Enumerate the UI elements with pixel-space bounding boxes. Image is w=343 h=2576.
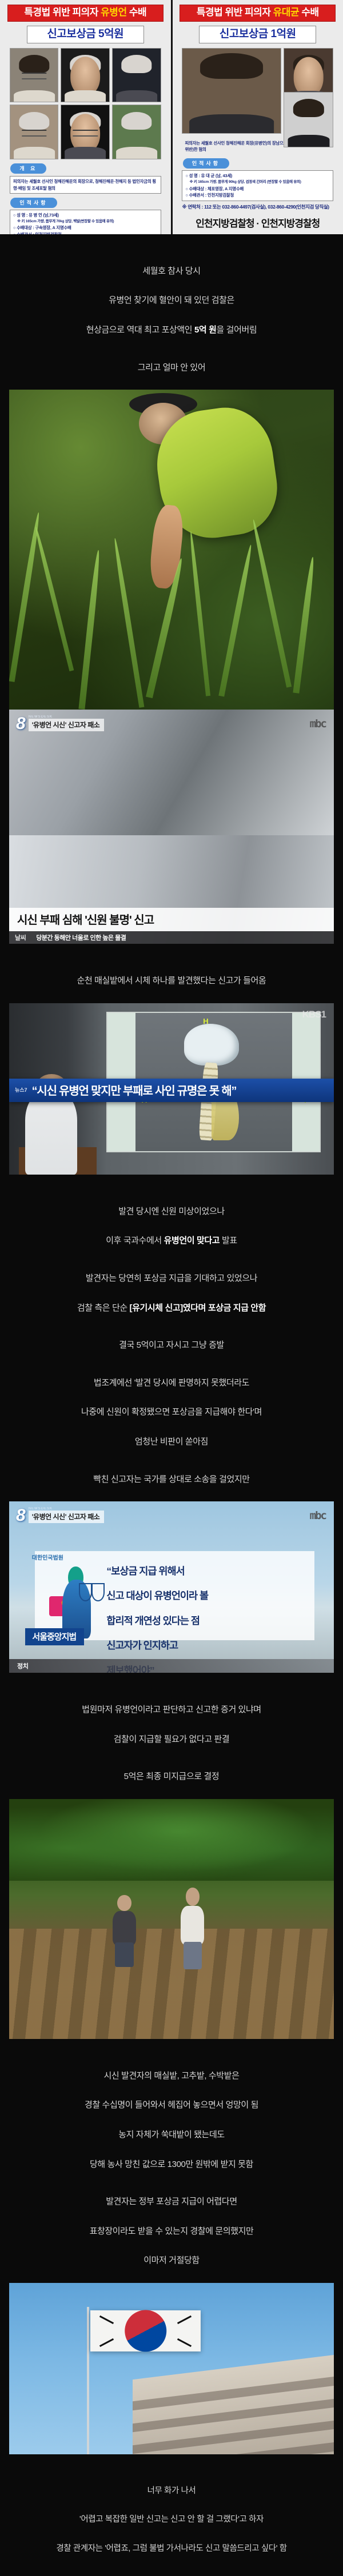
mbc-newsdesk-shot: 8 NEWSDESK '유병언 시신' 신고자 패소 mbc (9, 710, 334, 835)
mbc-logo: mbc (310, 1509, 326, 1522)
narration-line: 당해 농사 망친 값으로 1300만 원밖에 받지 못함 (90, 2160, 253, 2169)
narration-line: 유병언 찾기에 혈안이 돼 있던 검찰은 (109, 295, 234, 305)
poster-identity-left: ○ 성 명 : 유 병 언 (남,73세) ※ 키 165cm 가량, 몸무게 … (10, 210, 161, 234)
flagpole-shape (87, 2307, 89, 2454)
narration-line: 빡친 신고자는 국가를 상대로 소송을 걸었지만 (93, 1475, 249, 1484)
narration-line: 검찰이 지급할 필요가 없다고 판결 (114, 1734, 230, 1744)
poster-section-tag-identity: 인적사항 (10, 198, 57, 208)
suspect-photo-mugshot (284, 92, 333, 147)
poster-section-tag-identity: 인적사항 (183, 158, 229, 169)
kbs-forensic-briefing-shot: A P H KBS1 뉴스7 “시신 유병언 맞지만 부패로 사인 규명은 못 … (9, 1003, 334, 1175)
narration-line: 현상금으로 역대 최고 포상액인 (86, 325, 194, 335)
newsdesk-label: NEWSDESK (29, 715, 105, 719)
narration-block-2: 순천 매실밭에서 시체 하나를 발견했다는 신고가 들어옴 (0, 944, 343, 1003)
suspect-photo (61, 48, 110, 103)
narration-line: 이마저 거절당함 (143, 2255, 200, 2265)
poster-banner-prefix: 특경법 위반 피의자 (24, 7, 101, 18)
narration-line: 법원마저 유병언이라고 판단하고 신고한 증거 있냐며 (82, 1705, 261, 1714)
news-ticker: 정치 (9, 1659, 334, 1673)
narration-highlight: 유병언이 맞다고 (164, 1236, 220, 1245)
suspect-photo (112, 48, 161, 103)
kbs-headline-text: “시신 유병언 맞지만 부패로 사인 규명은 못 해” (32, 1081, 237, 1098)
narration-line: 경찰 수십명이 들어와서 헤집어 놓으면서 엉망이 됨 (85, 2100, 258, 2110)
news-channel-badge: 8 NEWSDESK '유병언 시신' 신고자 패소 (16, 1507, 104, 1523)
narration-line: 너무 화가 나서 (147, 2486, 196, 2495)
news-ticker: 날씨 당분간 동해안 너울로 인한 높은 물결 (9, 931, 334, 944)
narration-line: 엄청난 비판이 쏟아짐 (135, 1437, 208, 1447)
identity-line: ○ 성 명 : 유 병 언 (남,73세) (13, 213, 59, 218)
identity-line: ○ 수배대상 : 구속영장, A 지명수배 (13, 225, 71, 230)
channel-number: 8 (16, 1508, 26, 1523)
suspect-photo-main (182, 48, 281, 134)
identity-line-note: ※ 키 165cm 가량, 몸무게 70kg 상당, 백발(변장할 수 있음에 … (13, 219, 158, 225)
poster-banner-right: 특경법 위반 피의자 유대균 수배 (180, 5, 336, 22)
farm-field-photo (9, 1799, 334, 2039)
wanted-poster-yoo-dae-kyun: 특경법 위반 피의자 유대균 수배 신고보상금 1억원 피의자는 세월호 선사인… (173, 0, 343, 234)
poster-reward-right: 신고보상금 1억원 (199, 26, 316, 43)
narration-line: 발견 당시엔 신원 미상이었으나 (118, 1207, 225, 1216)
mbc-logo: mbc (310, 718, 326, 730)
court-ruling-shot: 8 NEWSDESK '유병언 시신' 신고자 패소 mbc 대한민국법원 “보… (9, 1501, 334, 1673)
channel-number: 8 (16, 716, 26, 731)
speaker-figure (25, 1092, 77, 1175)
court-source-label: 서울중앙지법 (25, 1628, 84, 1645)
poster-summary-left: 피의자는 세월호 선사인 청해진해운의 회장으로, 청해진해운·천해지 등 법인… (10, 176, 161, 194)
narration-line: 순천 매실밭에서 시체 하나를 발견했다는 신고가 들어옴 (77, 976, 266, 985)
identity-line: ○ 성 명 : 유 대 균 (남, 43세) (185, 173, 232, 178)
emblem-text: 대한민국법원 (32, 1553, 117, 1632)
axis-label-head: H (203, 1017, 208, 1025)
narration-line: 농지 자체가 쑥대밭이 됐는데도 (118, 2130, 225, 2140)
suspect-photo-grid-left (10, 48, 161, 160)
newsdesk-label: NEWSDESK (29, 1507, 105, 1511)
narration-line: 발표 (220, 1236, 237, 1245)
government-building-flag-photo (9, 2283, 334, 2454)
identity-line: ○ 수배관서 : 인천지방검찰청 (13, 232, 62, 234)
poster-banner-name: 유대균 (273, 7, 299, 18)
news-headline-strip: '유병언 시신' 신고자 패소 (29, 719, 105, 731)
narration-block-5: 시신 발견자의 매실밭, 고추밭, 수박밭은 경찰 수십명이 들어와서 헤집어 … (0, 2039, 343, 2283)
poster-footer-right: 인천지방검찰청 · 인천지방경찰청 (196, 213, 320, 232)
news-channel-badge: 8 NEWSDESK '유병언 시신' 신고자 패소 (16, 715, 104, 731)
crop-rows-shape (9, 1929, 334, 2039)
program-label: 뉴스7 (15, 1086, 27, 1093)
poster-banner-prefix: 특경법 위반 피의자 (197, 7, 273, 18)
suspect-photo (10, 48, 59, 103)
narration-highlight: [유기시체 신고]였다며 포상금 지급 안함 (130, 1303, 266, 1313)
poster-contact-right: ※ 연락처 : 112 또는 032-860-4497(검사실), 032-86… (182, 203, 333, 210)
identity-line-note: ※ 키 165cm 가량, 몸무게 90kg 상당, 검정색 긴머리 (변장할 … (185, 179, 330, 185)
narration-block-1: 세월호 참사 당시 유병언 찾기에 혈안이 돼 있던 검찰은 현상금으로 역대 … (0, 234, 343, 390)
narration-line: '어렵고 복잡한 일반 신고는 신고 안 할 걸 그랬다'고 하자 (79, 2515, 264, 2524)
narration-line: 발견자는 당연히 포상금 지급을 기대하고 있었으나 (86, 1273, 257, 1283)
person-arm-shape (147, 504, 185, 590)
court-quote-text: “보상금 지급 위해서 신고 대상이 유병언이라 볼 합리적 개연성 있다는 점… (106, 1553, 321, 1673)
field-discovery-photo (9, 390, 334, 710)
autopsy-report-shot: 시신 부패 심해 '신원 불명' 신고 날씨 당분간 동해안 너울로 인한 높은… (9, 835, 334, 944)
narration-line: 나중에 신원이 확정됐으면 포상금을 지급해야 한다'며 (81, 1407, 262, 1417)
narration-line: 을 걸어버림 (217, 325, 257, 335)
narration-line: 시신 발견자의 매실밭, 고추밭, 수박밭은 (103, 2071, 239, 2081)
poster-banner-name: 유병언 (101, 7, 126, 18)
news-headline-strip: '유병언 시신' 신고자 패소 (29, 1511, 105, 1523)
skull-graphic (184, 1024, 239, 1065)
korean-flag-icon (90, 2310, 201, 2351)
narration-line: 검찰 측은 단순 (77, 1303, 130, 1313)
identity-line: ○ 수배대상 : 체포영장, A 지명수배 (185, 186, 244, 191)
person-figure (178, 1888, 207, 1969)
narration-line: 이후 국과수에서 (106, 1236, 163, 1245)
quote-line: “보상금 지급 위해서 (106, 1565, 184, 1577)
narration-block-3: 발견 당시엔 신원 미상이었으나 이후 국과수에서 유병언이 맞다고 발표 발견… (0, 1175, 343, 1501)
wanted-poster-yoo-byung-eun: 특경법 위반 피의자 유병언 수배 신고보상금 5억원 개 요 피의자는 세월호… (0, 0, 171, 234)
quote-line: 신고 대상이 유병언이라 볼 (106, 1590, 208, 1601)
poster-banner-suffix: 수배 (299, 7, 319, 18)
narration-line: 표창장이라도 받을 수 있는지 경찰에 문의했지만 (90, 2226, 254, 2236)
narration-line: 법조계에선 '발견 당시에 판명하지 못했더라도 (94, 1378, 249, 1388)
narration-block-4: 법원마저 유병언이라고 판단하고 신고한 증거 있냐며 검찰이 지급할 필요가 … (0, 1673, 343, 1799)
wanted-posters-section: 특경법 위반 피의자 유병언 수배 신고보상금 5억원 개 요 피의자는 세월호… (0, 0, 343, 234)
kbs-logo: KBS1 (302, 1009, 326, 1020)
narration-block-closing: 너무 화가 나서 '어렵고 복잡한 일반 신고는 신고 안 할 걸 그랬다'고 … (0, 2454, 343, 2575)
suspect-photo-grid-right (182, 48, 333, 134)
narration-line: 5억은 최종 미지급으로 결정 (124, 1772, 220, 1781)
kbs-headline-strip: 뉴스7 “시신 유병언 맞지만 부패로 사인 규명은 못 해” (9, 1079, 334, 1102)
suspect-photo (112, 105, 161, 159)
narration-highlight: 5억 원 (194, 325, 217, 335)
narration-line: 발견자는 정부 포상금 지급이 어렵다면 (106, 2197, 237, 2206)
person-figure (110, 1895, 139, 1967)
suspect-photo (61, 105, 110, 159)
infographic-page: 특경법 위반 피의자 유병언 수배 신고보상금 5억원 개 요 피의자는 세월호… (0, 0, 343, 2576)
suspect-photo (10, 105, 59, 159)
narration-line: 결국 5억이고 자시고 그냥 증발 (119, 1340, 224, 1350)
poster-reward-left: 신고보상금 5억원 (27, 26, 144, 43)
narration-line: 경찰 관계자는 '어렵죠, 그럼 불법 가서나라도 신고 말씀드리고 싶다' 함 (56, 2544, 286, 2553)
poster-section-tag-overview: 개 요 (10, 163, 46, 174)
news-lower-third: 시신 부패 심해 '신원 불명' 신고 (9, 908, 334, 931)
tree-canopy-shape (9, 1799, 334, 1881)
ticker-category: 날씨 (15, 933, 26, 942)
ticker-category: 정치 (17, 1663, 28, 1670)
poster-banner-left: 특경법 위반 피의자 유병언 수배 (7, 5, 163, 22)
poster-banner-suffix: 수배 (127, 7, 147, 18)
narration-line: 그리고 얼마 안 있어 (138, 363, 206, 372)
quote-line: 합리적 개연성 있다는 점 (106, 1615, 200, 1626)
poster-identity-right: ○ 성 명 : 유 대 균 (남, 43세) ※ 키 165cm 가량, 몸무게… (182, 170, 333, 201)
identity-line: ○ 수배관서 : 인천지방검찰청 (185, 193, 234, 198)
quote-line: 신고자가 인지하고 (106, 1640, 178, 1651)
ticker-text: 당분간 동해안 너울로 인한 높은 물결 (36, 933, 126, 942)
narration-line: 세월호 참사 당시 (142, 266, 200, 276)
building-shape (133, 2355, 334, 2454)
